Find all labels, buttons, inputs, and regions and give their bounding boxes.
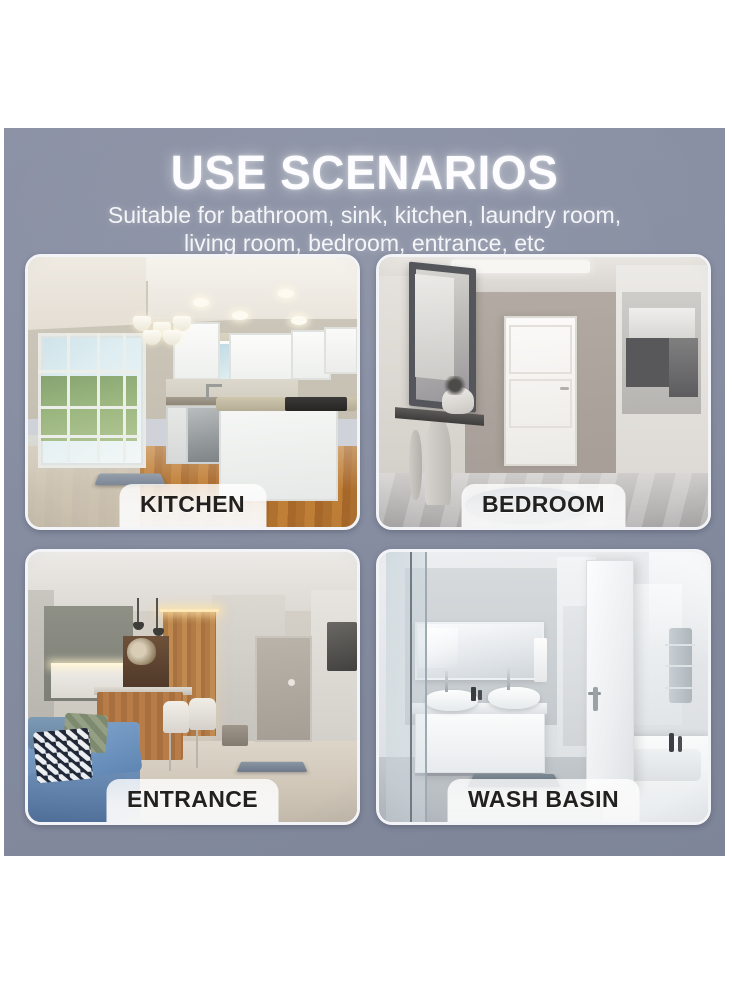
floor-mat [236,762,307,772]
scenario-card-wash-basin[interactable]: WASH BASIN [376,549,711,825]
subtitle-line-1: Suitable for bathroom, sink, kitchen, la… [108,202,621,228]
use-scenarios-panel: USE SCENARIOS Suitable for bathroom, sin… [4,128,725,856]
card-label-entrance: ENTRANCE [106,779,279,822]
scenario-card-kitchen[interactable]: KITCHEN [25,254,360,530]
scenario-grid: KITCHEN BEDROOM [25,254,705,828]
page-subtitle: Suitable for bathroom, sink, kitchen, la… [11,202,718,257]
page-title: USE SCENARIOS [18,146,710,201]
card-label-kitchen: KITCHEN [119,484,266,527]
product-infographic: USE SCENARIOS Suitable for bathroom, sin… [0,0,733,1000]
card-label-bedroom: BEDROOM [461,484,626,527]
floor-mat [95,473,166,484]
scenario-card-bedroom[interactable]: BEDROOM [376,254,711,530]
scenario-card-entrance[interactable]: ENTRANCE [25,549,360,825]
card-label-wash-basin: WASH BASIN [447,779,640,822]
